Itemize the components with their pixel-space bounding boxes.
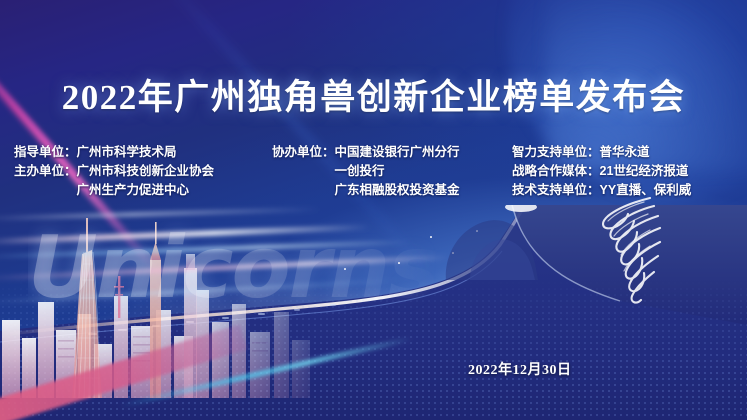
- sponsor-block: 指导单位： 广州市科学技术局 主办单位： 广州市科技创新企业协会 主办单位： 广…: [14, 143, 739, 200]
- poster-stage: Unicorns 2022年广州独角兽创新企业榜单发布会: [0, 0, 747, 420]
- sponsor-label: 战略合作媒体：: [512, 162, 600, 181]
- sponsor-row: 协办单位： 一创投行: [272, 162, 512, 181]
- sponsor-column-2: 协办单位： 中国建设银行广州分行 协办单位： 一创投行 协办单位： 广东相融股权…: [272, 143, 512, 200]
- sponsor-value: YY直播、保利威: [600, 181, 692, 200]
- sponsor-row: 主办单位： 广州生产力促进中心: [14, 181, 272, 200]
- page-title: 2022年广州独角兽创新企业榜单发布会: [0, 69, 747, 120]
- sponsor-value: 广州生产力促进中心: [77, 181, 190, 200]
- sponsor-row: 协办单位： 中国建设银行广州分行: [272, 143, 512, 162]
- sponsor-row: 指导单位： 广州市科学技术局: [14, 143, 272, 162]
- sponsor-label: 协办单位：: [272, 143, 335, 162]
- sponsor-row: 智力支持单位： 普华永道: [512, 143, 691, 162]
- sponsor-label: 技术支持单位：: [512, 181, 600, 200]
- hill-silhouette: [440, 210, 560, 280]
- sponsor-value: 普华永道: [600, 143, 650, 162]
- sponsor-value: 广州市科技创新企业协会: [77, 162, 215, 181]
- sponsor-row: 战略合作媒体： 21世纪经济报道: [512, 162, 691, 181]
- sponsor-label: 指导单位：: [14, 143, 77, 162]
- sponsor-value: 广东相融股权投资基金: [335, 181, 460, 200]
- sponsor-value: 广州市科学技术局: [77, 143, 177, 162]
- sponsor-value: 中国建设银行广州分行: [335, 143, 460, 162]
- sponsor-row: 主办单位： 广州市科技创新企业协会: [14, 162, 272, 181]
- sponsor-label: 主办单位：: [14, 162, 77, 181]
- sponsor-row: 协办单位： 广东相融股权投资基金: [272, 181, 512, 200]
- sponsor-column-1: 指导单位： 广州市科学技术局 主办单位： 广州市科技创新企业协会 主办单位： 广…: [14, 143, 272, 200]
- sponsor-label: 智力支持单位：: [512, 143, 600, 162]
- sponsor-row: 技术支持单位： YY直播、保利威: [512, 181, 691, 200]
- sponsor-column-3: 智力支持单位： 普华永道 战略合作媒体： 21世纪经济报道 技术支持单位： YY…: [512, 143, 691, 200]
- sponsor-value: 21世纪经济报道: [600, 162, 689, 181]
- event-date: 2022年12月30日: [468, 359, 572, 379]
- sponsor-value: 一创投行: [335, 162, 385, 181]
